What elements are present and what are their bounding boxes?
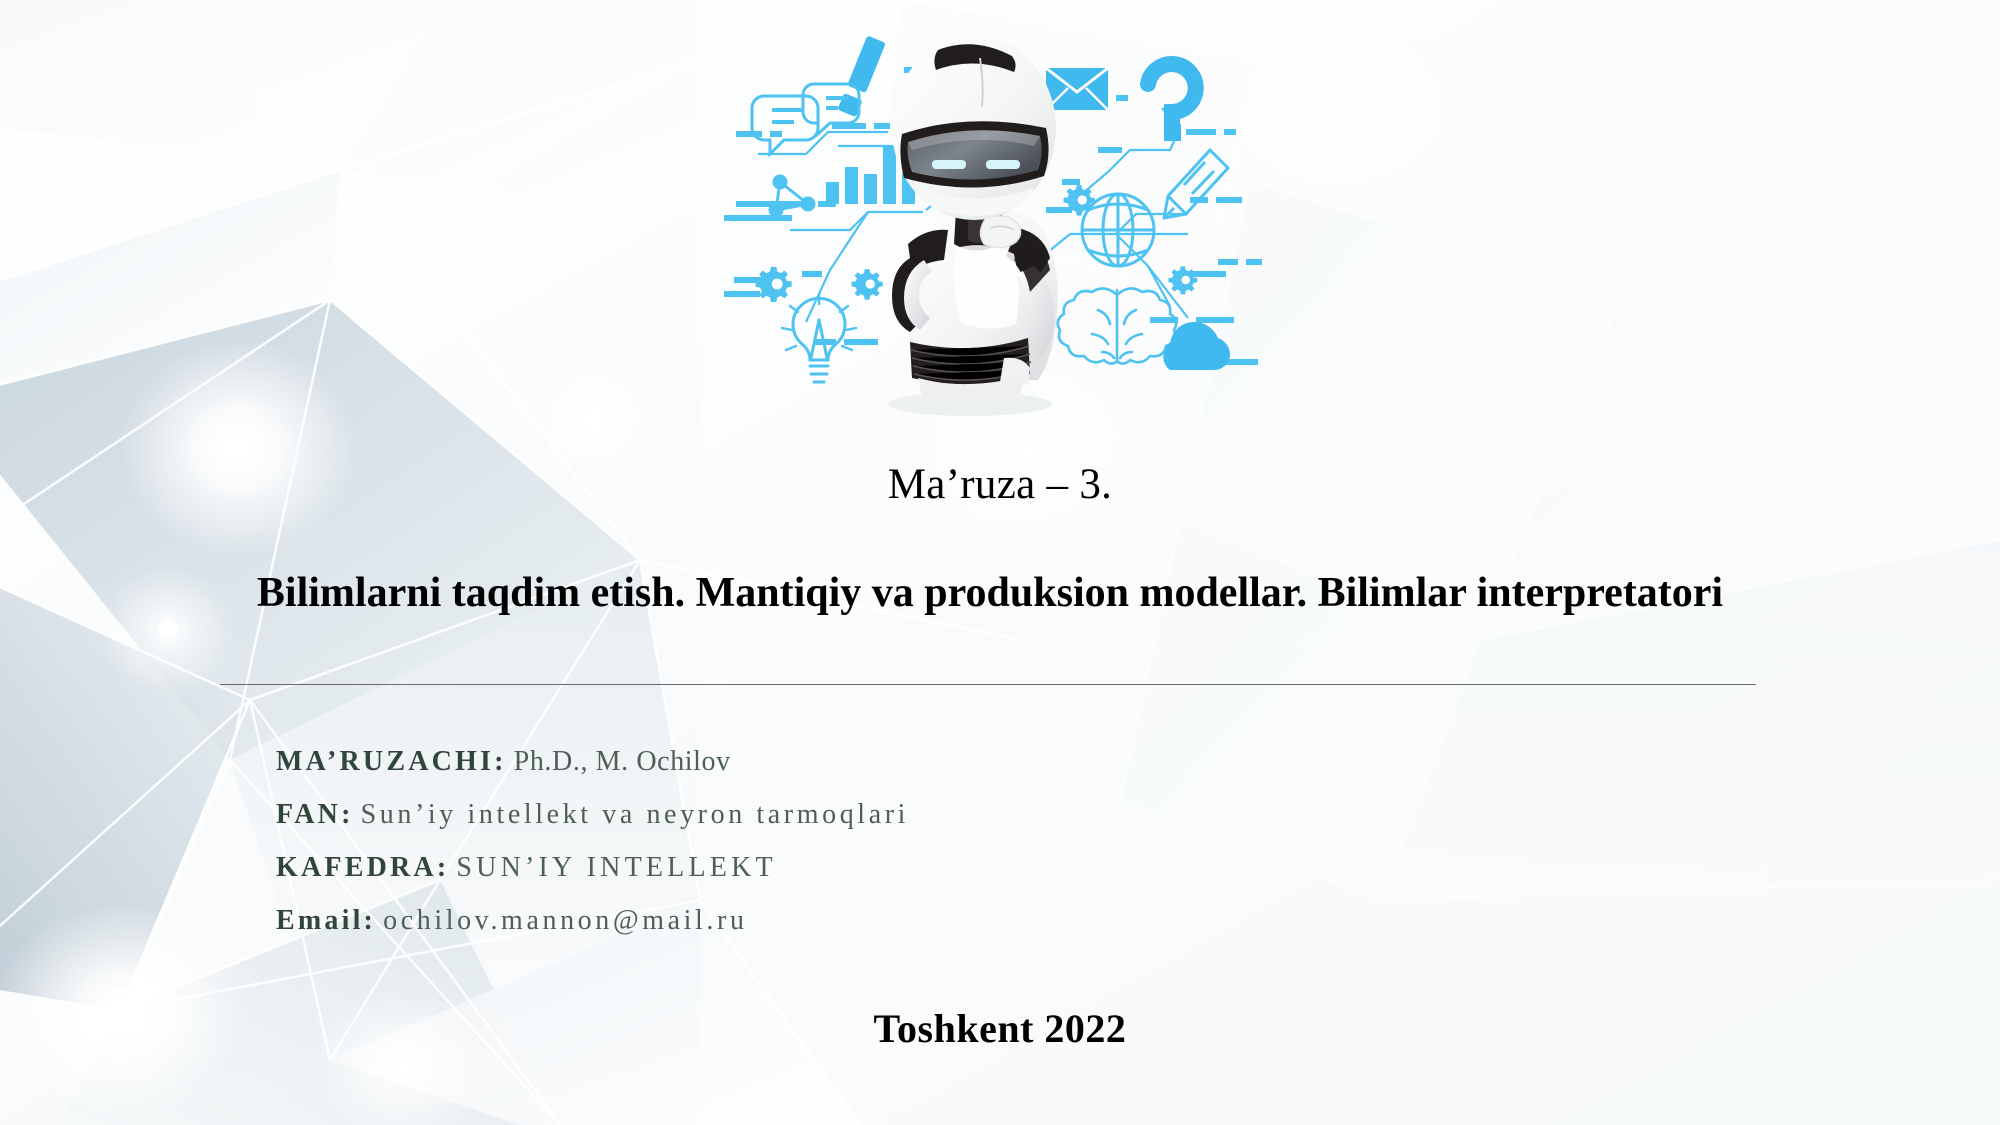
robot-figure [888,36,1058,416]
lecturer-value: Ph.D., M. Ochilov [514,746,731,777]
pencil-icon [1164,150,1228,218]
lecturer-label: MA’RUZACHI: [276,746,507,777]
subject-label: FAN: [276,799,354,830]
department-value: SUN’IY INTELLEKT [456,852,776,883]
subject-value: Sun’iy intellekt va neyron tarmoqlari [361,799,909,830]
robot-eye-left [932,160,966,169]
lecturer-line: MA’RUZACHI: Ph.D., M. Ochilov [276,735,1476,788]
email-line: Email: ochilov.mannon@mail.ru [276,894,1476,947]
page-title: Bilimlarni taqdim etish. Mantiqiy va pro… [220,570,1760,617]
question-mark-icon [1148,64,1196,126]
robot-eye-right [986,160,1020,169]
subject-line: FAN: Sun’iy intellekt va neyron tarmoqla… [276,788,1476,841]
email-label: Email: [276,905,376,936]
department-label: KAFEDRA: [276,852,449,883]
lightbulb-icon [782,294,856,382]
title-divider [220,684,1756,685]
department-line: KAFEDRA: SUN’IY INTELLEKT [276,841,1476,894]
info-block: MA’RUZACHI: Ph.D., M. Ochilov FAN: Sun’i… [276,735,1476,947]
chat-bubbles-icon [752,84,859,154]
globe-icon [1082,194,1154,266]
presentation-slide: Ma’ruza – 3. Bilimlarni taqdim etish. Ma… [0,0,2000,1125]
exclamation-mark-icon [837,35,886,117]
lecture-number: Ma’ruza – 3. [0,460,2000,509]
footer-place: Toshkent 2022 [0,1005,2000,1052]
network-node-icon [770,176,814,216]
ai-robot-thinking-illustration [718,22,1288,422]
envelope-icon [1046,68,1108,110]
robot-hand [980,216,1020,248]
question-mark-dot [1164,124,1181,141]
brain-icon [1058,288,1177,363]
email-value[interactable]: ochilov.mannon@mail.ru [383,905,747,936]
